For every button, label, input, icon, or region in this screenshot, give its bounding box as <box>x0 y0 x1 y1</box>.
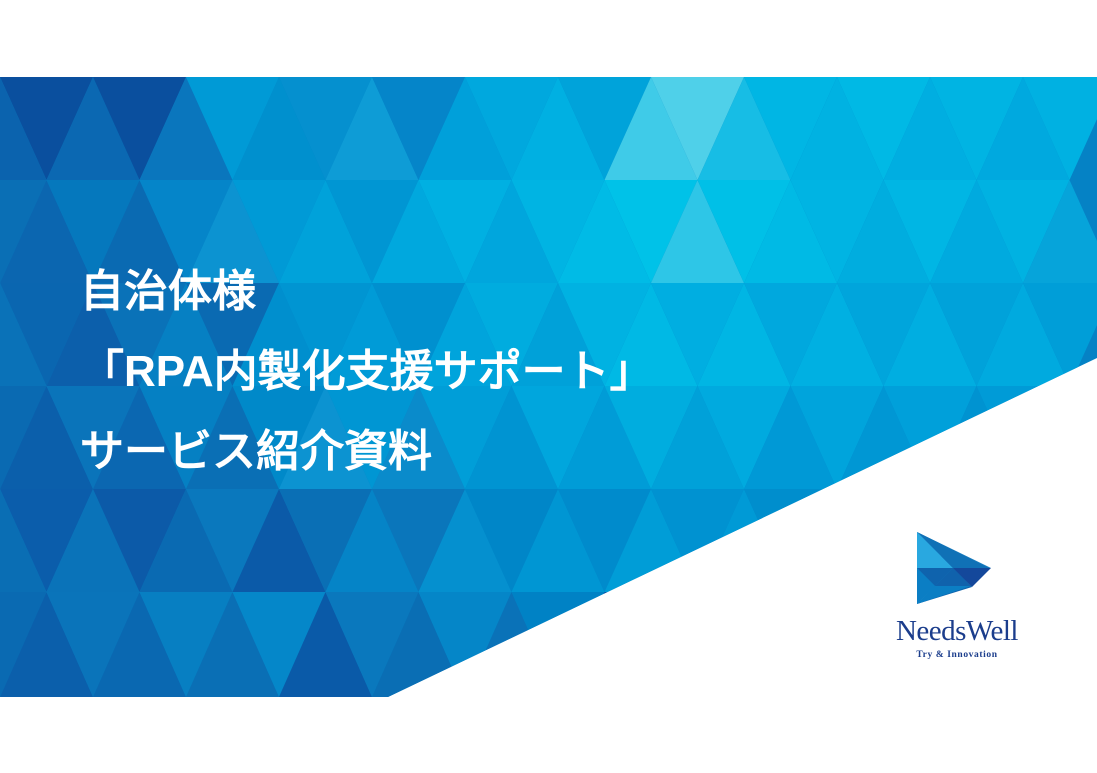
title-line-3: サービス紹介資料 <box>80 412 700 492</box>
title-line-2: 「RPA内製化支援サポート」 <box>80 332 700 412</box>
company-logo: NeedsWell Try & Innovation <box>884 530 1030 666</box>
needswell-play-triangle-icon <box>914 530 994 606</box>
logo-wordmark: NeedsWell <box>884 616 1030 646</box>
logo-tagline: Try & Innovation <box>884 650 1030 661</box>
title-slide: 自治体様 「RPA内製化支援サポート」 サービス紹介資料 <box>0 0 1097 773</box>
title-line-1: 自治体様 <box>80 252 700 332</box>
slide-title: 自治体様 「RPA内製化支援サポート」 サービス紹介資料 <box>80 252 700 492</box>
